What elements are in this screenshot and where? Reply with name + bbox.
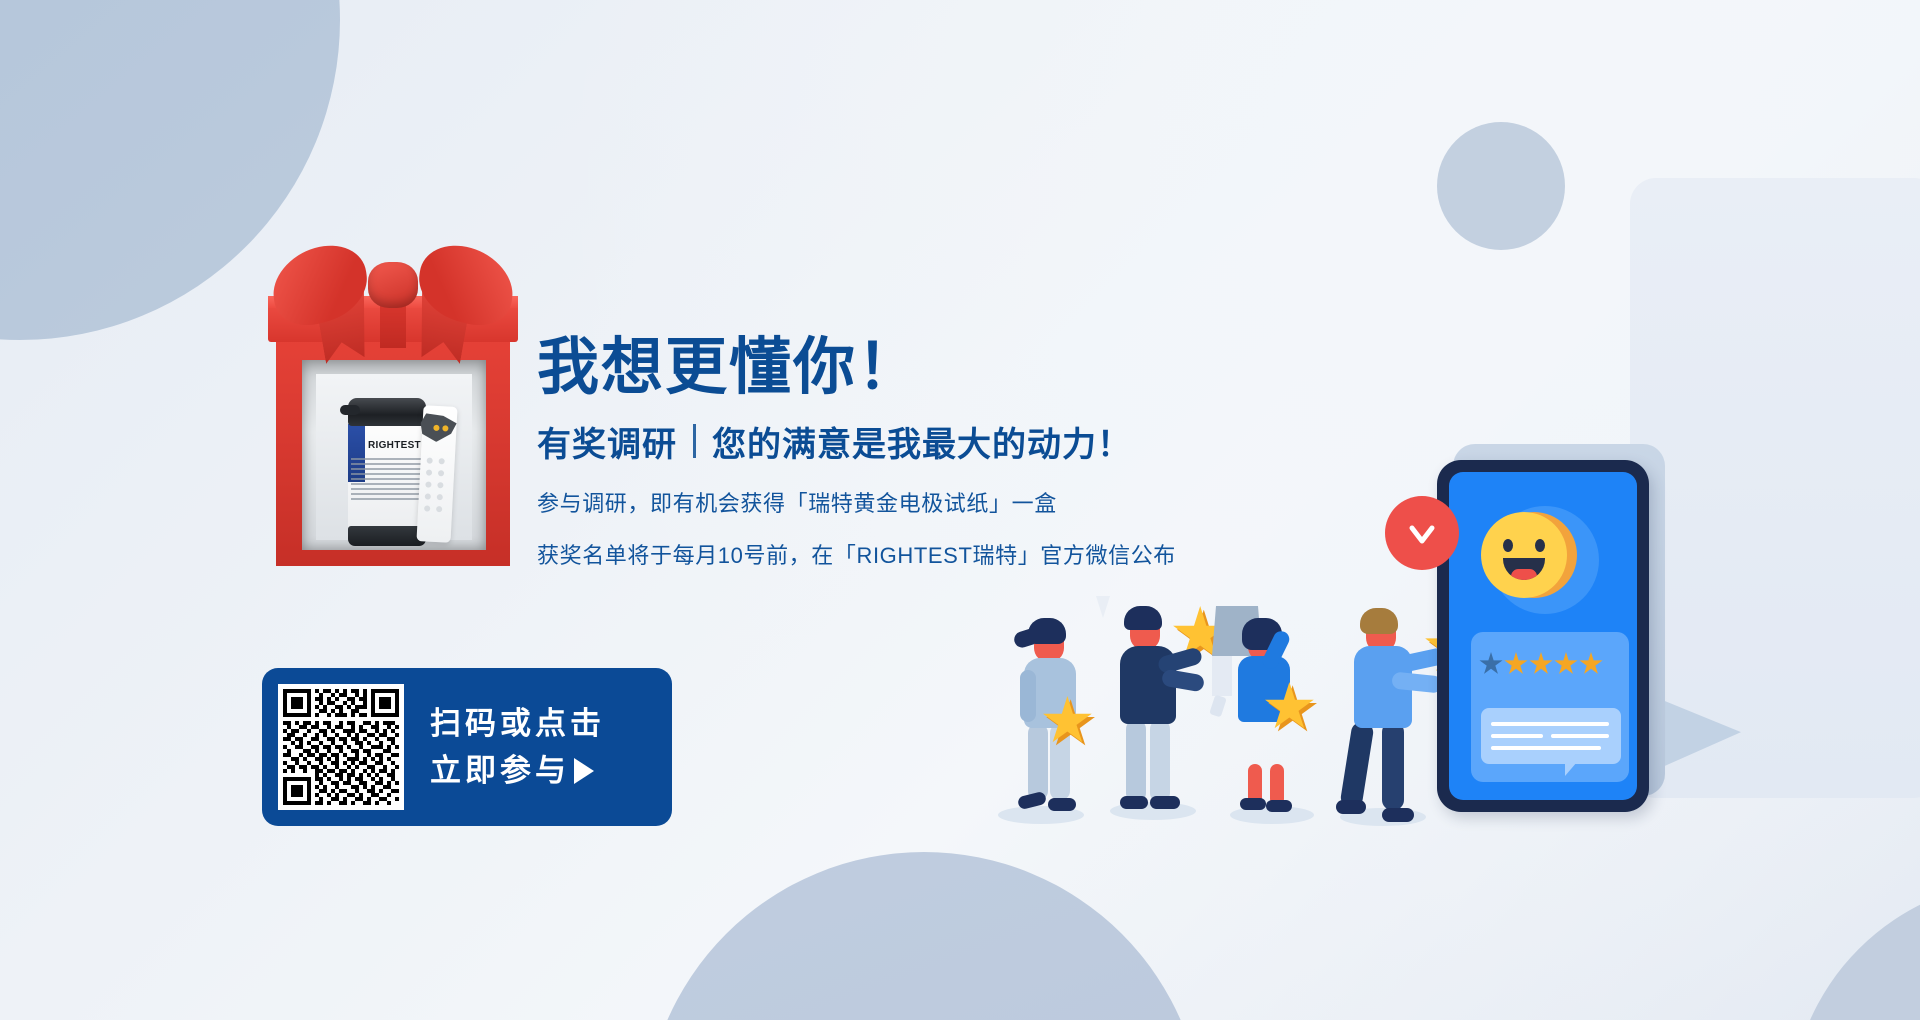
- arm: [1020, 670, 1036, 722]
- ribbon-bow-icon: [268, 238, 518, 348]
- mobile-phone-icon: [1209, 695, 1227, 718]
- person-woman-with-star: [992, 608, 1112, 828]
- decorative-circle-top-right: [1437, 122, 1565, 250]
- star-rating[interactable]: [1479, 652, 1604, 676]
- rating-star-4[interactable]: [1554, 652, 1578, 676]
- headline-block: 我想更懂你！ 有奖调研 您的满意是我最大的动力！ 参与调研，即有机会获得「瑞特黄…: [537, 335, 1297, 570]
- rating-star-5[interactable]: [1579, 652, 1603, 676]
- smartphone-illustration: [1437, 460, 1667, 810]
- comment-line-2b: [1551, 734, 1609, 738]
- page-title: 我想更懂你！: [537, 335, 1297, 401]
- cta-line-2-label: 立即参与: [430, 747, 570, 794]
- smiley-tongue: [1511, 569, 1537, 580]
- strip-chip: [420, 413, 457, 443]
- play-arrow-icon: [574, 758, 594, 784]
- leg-right: [1382, 722, 1404, 810]
- bow-knot: [368, 262, 418, 308]
- qr-code-icon[interactable]: [278, 684, 404, 810]
- body-line-1: 参与调研，即有机会获得「瑞特黄金电极试纸」一盒: [537, 486, 1297, 518]
- cta-line-2: 立即参与: [430, 747, 605, 794]
- gift-box-icon: RIGHTEST: [268, 238, 518, 568]
- smiley-eye-right: [1535, 539, 1545, 552]
- bottle-cap-tab: [340, 405, 360, 415]
- shoe-right: [1150, 796, 1180, 809]
- comment-line-1: [1491, 722, 1609, 726]
- bottle-brand-text: RIGHTEST: [368, 440, 426, 451]
- rating-star-1[interactable]: [1479, 652, 1503, 676]
- subtitle-left: 有奖调研: [537, 417, 677, 466]
- smiley-face-icon: [1481, 512, 1573, 604]
- test-strip-icon: [416, 405, 457, 543]
- person-man-holding-star: [1096, 596, 1226, 828]
- cta-line-1: 扫码或点击: [430, 700, 605, 747]
- body-line-2: 获奖名单将于每月10号前，在「RIGHTEST瑞特」官方微信公布: [537, 538, 1297, 570]
- bottle-base: [348, 526, 426, 546]
- comment-line-3: [1491, 746, 1601, 750]
- hair: [1124, 606, 1162, 630]
- bottle-cap: [348, 398, 426, 426]
- smiley-mouth: [1503, 558, 1545, 580]
- subtitle-divider: [693, 424, 696, 458]
- shoe-right: [1382, 808, 1414, 822]
- smiley-face: [1481, 512, 1567, 598]
- comment-line-2a: [1491, 734, 1543, 738]
- scan-or-click-cta-button[interactable]: 扫码或点击 立即参与: [262, 668, 672, 826]
- shoe-right: [1048, 798, 1076, 811]
- decorative-circle-bottom-right: [1790, 880, 1920, 1020]
- rating-star-2[interactable]: [1504, 652, 1528, 676]
- shoe-left: [1120, 796, 1148, 809]
- comment-bubble-icon: [1481, 708, 1621, 764]
- subtitle-right: 您的满意是我最大的动力！: [712, 417, 1132, 466]
- star-icon: [1042, 696, 1096, 750]
- strip-dots: [424, 457, 449, 522]
- leg-right: [1150, 720, 1170, 802]
- shoe-left: [1336, 800, 1366, 814]
- hair: [1360, 608, 1398, 634]
- person-woman-on-phone-with-star: [1212, 606, 1338, 830]
- bottle-fine-print: [351, 458, 423, 503]
- phone-body: [1437, 460, 1649, 812]
- subtitle-row: 有奖调研 您的满意是我最大的动力！: [537, 417, 1297, 466]
- cta-line-1-label: 扫码或点击: [430, 700, 605, 747]
- rating-star-3[interactable]: [1529, 652, 1553, 676]
- cta-text-block: 扫码或点击 立即参与: [430, 700, 605, 794]
- collar: [1096, 596, 1110, 618]
- decorative-circle-bottom-left: [644, 852, 1204, 1020]
- hair: [1028, 618, 1066, 644]
- shirt: [1212, 656, 1232, 696]
- leg-left: [1339, 721, 1374, 809]
- phone-screen: [1449, 472, 1637, 800]
- shoe-right: [1266, 800, 1292, 812]
- leg-left: [1126, 720, 1146, 802]
- check-circle-icon: [1385, 496, 1459, 570]
- shoe-left: [1240, 798, 1266, 810]
- star-icon: [1264, 682, 1318, 736]
- smiley-eye-left: [1503, 539, 1513, 552]
- promo-banner: RIGHTEST: [0, 0, 1920, 1020]
